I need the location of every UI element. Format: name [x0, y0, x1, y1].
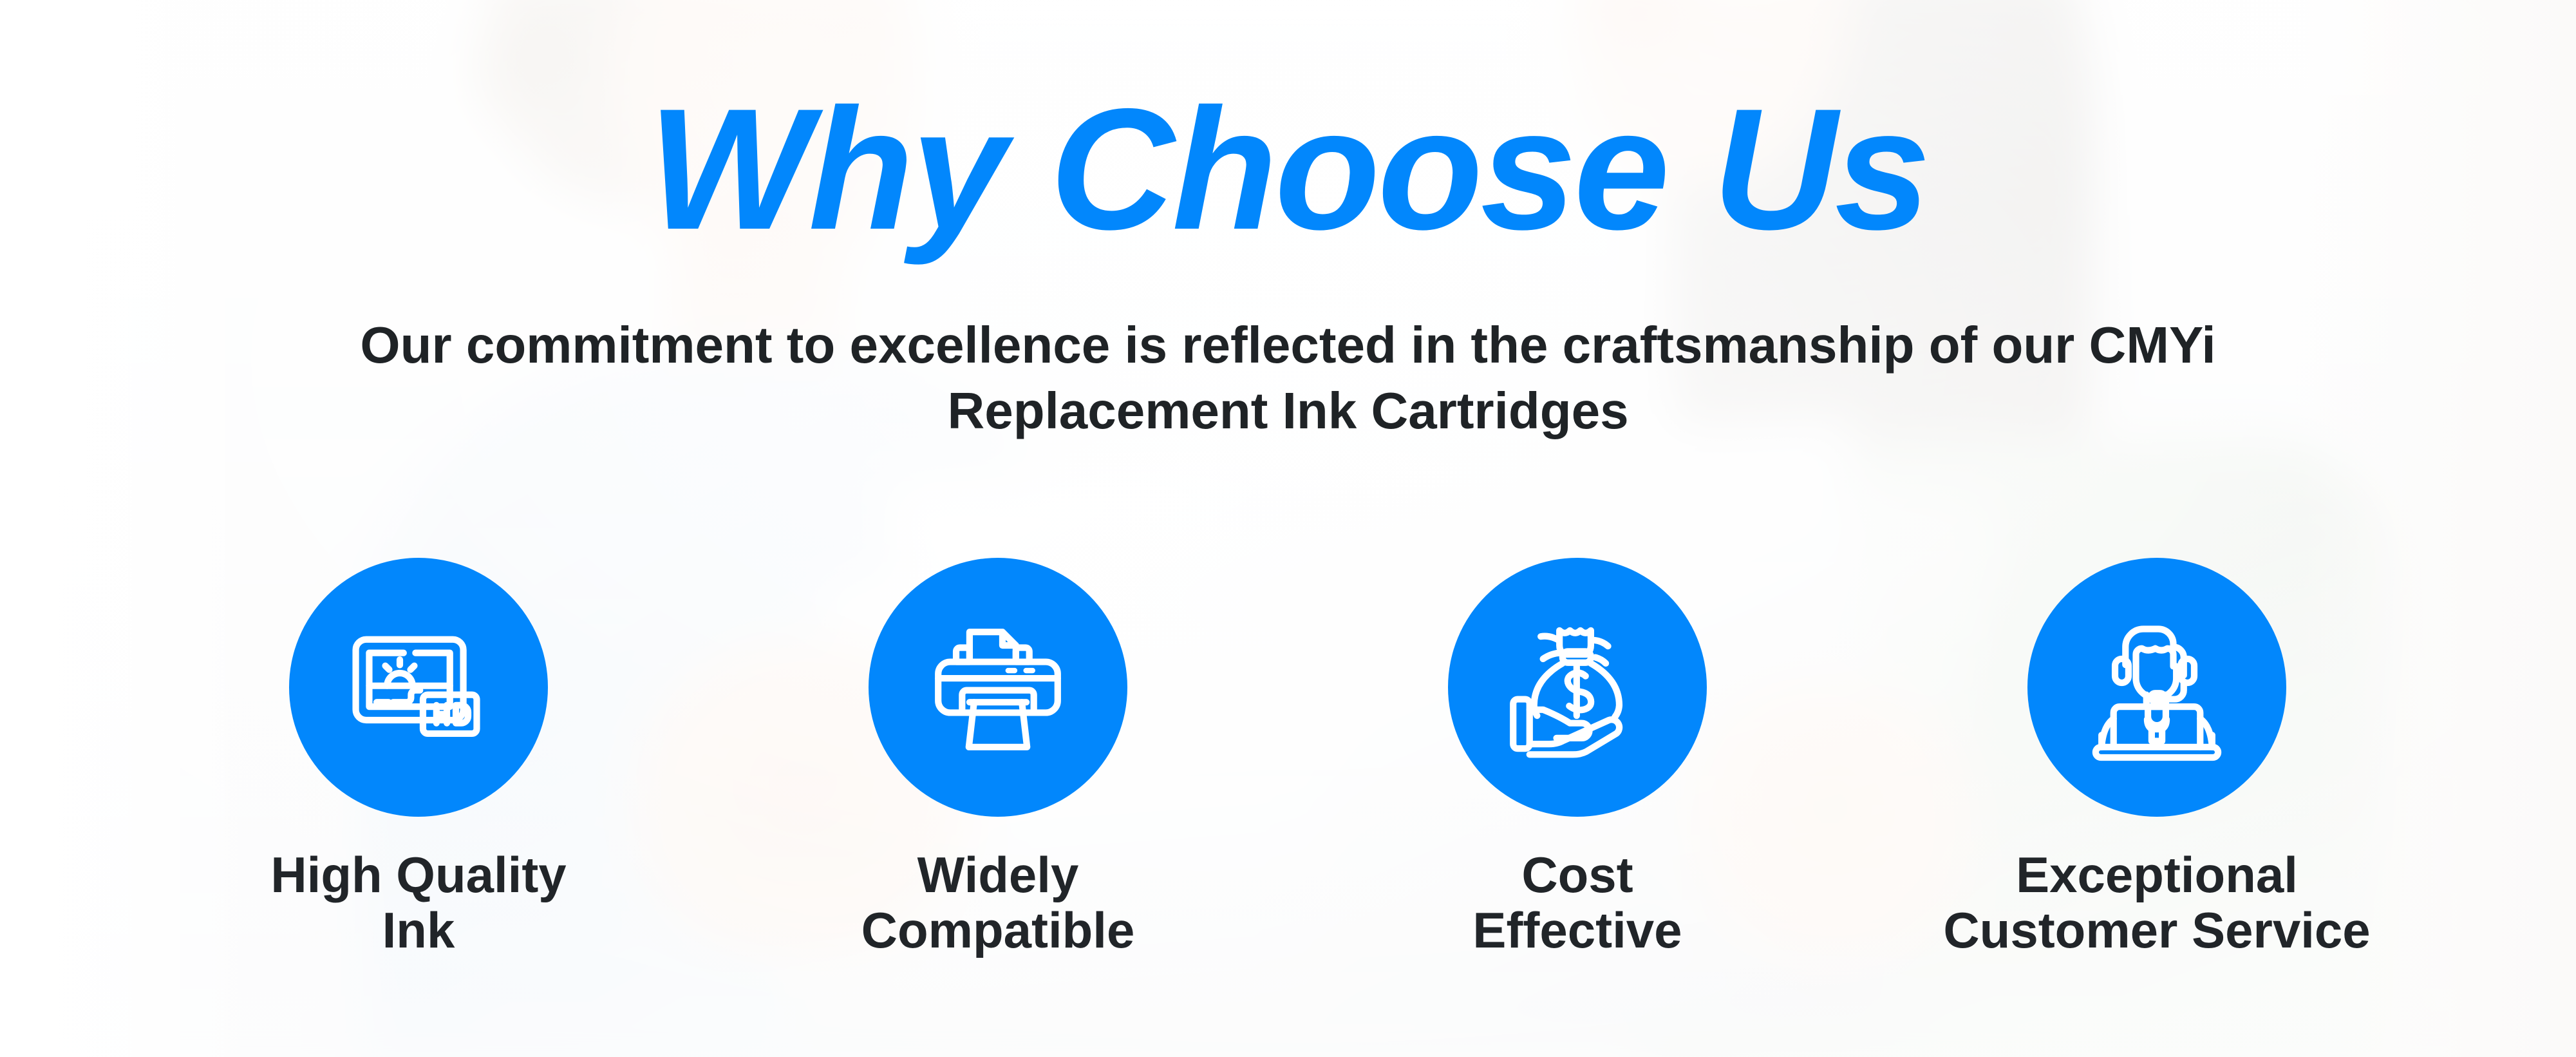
feature-label: Exceptional Customer Service [1943, 848, 2370, 958]
feature-label: Cost Effective [1472, 848, 1682, 958]
feature-item-widely-compatible[interactable]: Widely Compatible [747, 558, 1249, 958]
page-subtitle: Our commitment to excellence is reflecte… [339, 312, 2238, 444]
feature-item-high-quality-ink[interactable]: High Quality Ink [167, 558, 670, 958]
page-title: Why Choose Us [0, 82, 2576, 255]
feature-icon-circle [2027, 558, 2286, 817]
feature-label: Widely Compatible [861, 848, 1135, 958]
feature-icon-circle [869, 558, 1127, 817]
feature-label: High Quality Ink [270, 848, 566, 958]
money-bag-in-hand-icon [1503, 613, 1652, 762]
hd-image-quality-icon [344, 613, 493, 762]
feature-icon-circle [289, 558, 548, 817]
printer-icon [923, 613, 1073, 762]
customer-support-agent-icon [2082, 613, 2232, 762]
feature-list: High Quality Ink [167, 558, 2408, 958]
why-choose-us-banner: Why Choose Us Our commitment to excellen… [0, 0, 2576, 1057]
feature-item-cost-effective[interactable]: Cost Effective [1326, 558, 1829, 958]
feature-icon-circle [1448, 558, 1707, 817]
feature-item-exceptional-customer-service[interactable]: Exceptional Customer Service [1906, 558, 2408, 958]
